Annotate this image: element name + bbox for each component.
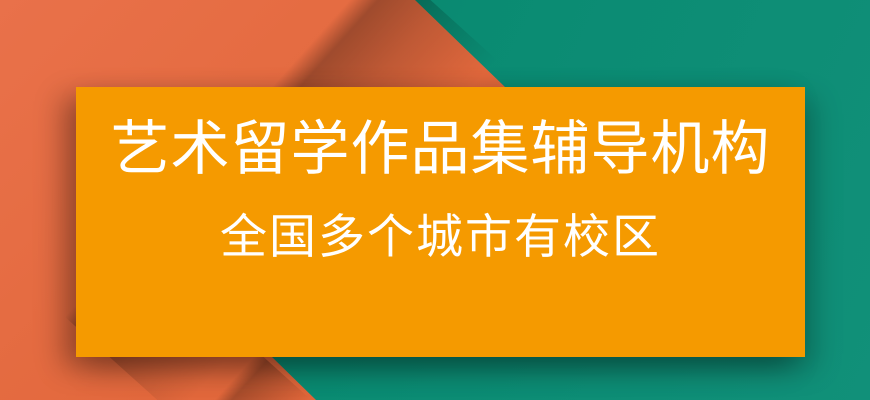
banner-title: 艺术留学作品集辅导机构 (110, 120, 770, 179)
banner-subtitle: 全国多个城市有校区 (220, 213, 661, 260)
headline-card: 艺术留学作品集辅导机构 全国多个城市有校区 (76, 87, 805, 357)
promo-banner: 艺术留学作品集辅导机构 全国多个城市有校区 (0, 0, 870, 400)
